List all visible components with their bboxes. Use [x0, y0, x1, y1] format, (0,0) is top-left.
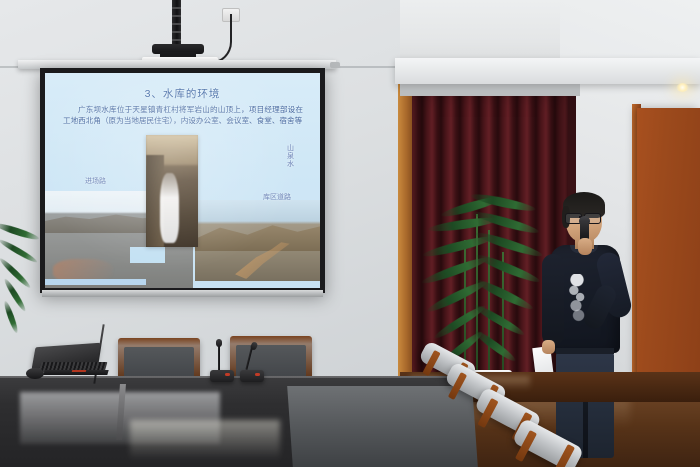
conference-room-photo: 3、水库的环境 广东坝水库位于天星镇青杠村将军岩山的山顶上，项目经理部设在工地西…: [0, 0, 700, 467]
slide-label-spring-water: 山泉水: [287, 145, 296, 169]
soffit-underside: [400, 84, 580, 96]
projector-mount-pole: [172, 0, 181, 46]
slide-label-reservoir-road: 库区道路: [263, 192, 291, 202]
slide-label-entry-road: 进场路: [85, 176, 106, 186]
slide-background-notch: [130, 247, 165, 263]
left-plant-fronds: [0, 222, 46, 342]
slide-title: 3、水库的环境: [45, 86, 320, 101]
slide-photo-waterfall-center: [146, 135, 198, 247]
mouse-device[interactable]: [26, 368, 44, 379]
chair-seat-panel: [124, 347, 194, 377]
presenter-hand-holding-mic: [578, 238, 592, 255]
ceiling-soffit: [395, 58, 700, 84]
waterfall-photo-water: [160, 173, 179, 243]
table-reflection-b: [130, 420, 280, 460]
screen-housing-end-cap: [330, 62, 340, 68]
conference-mic-right[interactable]: [240, 368, 266, 382]
screen-bottom-bar: [42, 290, 323, 297]
slide-background-strip: [45, 279, 146, 285]
chair-back-left[interactable]: [118, 338, 200, 380]
laptop-indicator-light: [72, 370, 87, 372]
alcove-wood-trim: [398, 70, 412, 390]
conference-mic-left[interactable]: [210, 368, 236, 382]
chair-row-right: [418, 352, 700, 467]
presenter-left-arm: [542, 254, 564, 346]
slide-body-text: 广东坝水库位于天星镇青杠村将军岩山的山顶上，项目经理部设在工地西北角（原为当地居…: [63, 104, 303, 127]
downlight-icon: [676, 83, 689, 92]
projection-screen-surface: 3、水库的环境 广东坝水库位于天星镇青杠村将军岩山的山顶上，项目经理部设在工地西…: [45, 73, 320, 288]
presentation-slide: 3、水库的环境 广东坝水库位于天星镇青杠村将军岩山的山顶上，项目经理部设在工地西…: [45, 73, 320, 288]
